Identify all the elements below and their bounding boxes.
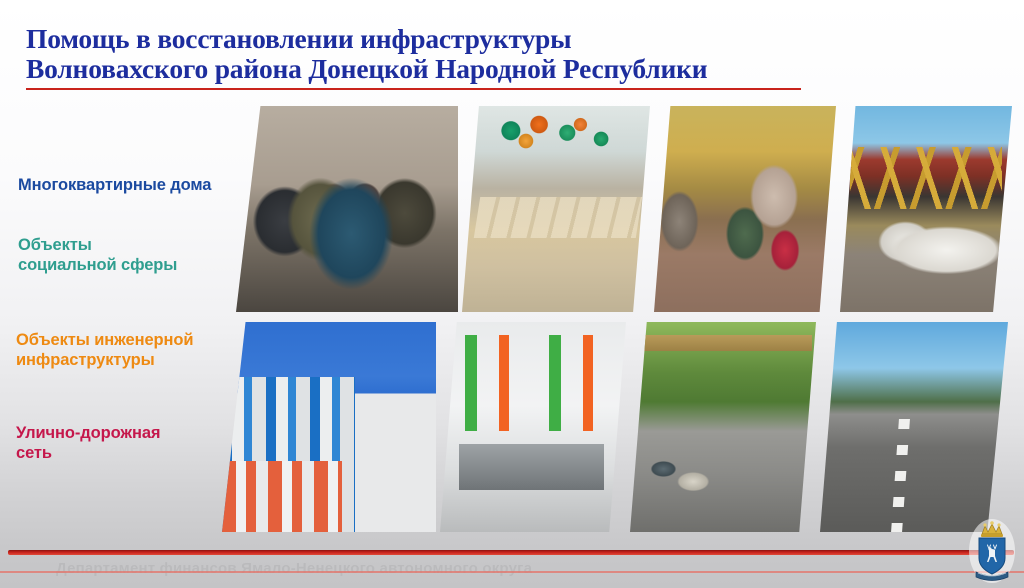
title-underline-rule — [26, 88, 801, 90]
title-line-1: Помощь в восстановлении инфраструктуры — [26, 24, 856, 54]
presentation-slide: Помощь в восстановлении инфраструктуры В… — [0, 0, 1024, 588]
polar-bear-building-photo — [840, 106, 1012, 312]
yamal-coat-of-arms-icon — [968, 518, 1016, 584]
highway-road-photo — [820, 322, 1008, 532]
footer-rule-thick — [8, 550, 1014, 555]
footer-department-text: Департамент финансов Ямало-Ненецкого авт… — [56, 560, 856, 577]
soldier-embrace-photo — [236, 106, 458, 312]
footer-rule-thin — [0, 571, 1024, 573]
mother-children-park-photo — [654, 106, 836, 312]
photo-collage — [0, 96, 1024, 536]
city-street-cars-photo — [630, 322, 816, 532]
school-building-photo — [440, 322, 626, 532]
title-line-2: Волновахского района Донецкой Народной Р… — [26, 54, 856, 84]
page-title: Помощь в восстановлении инфраструктуры В… — [26, 24, 856, 84]
apartment-block-photo — [222, 322, 436, 532]
school-classroom-photo — [462, 106, 650, 312]
